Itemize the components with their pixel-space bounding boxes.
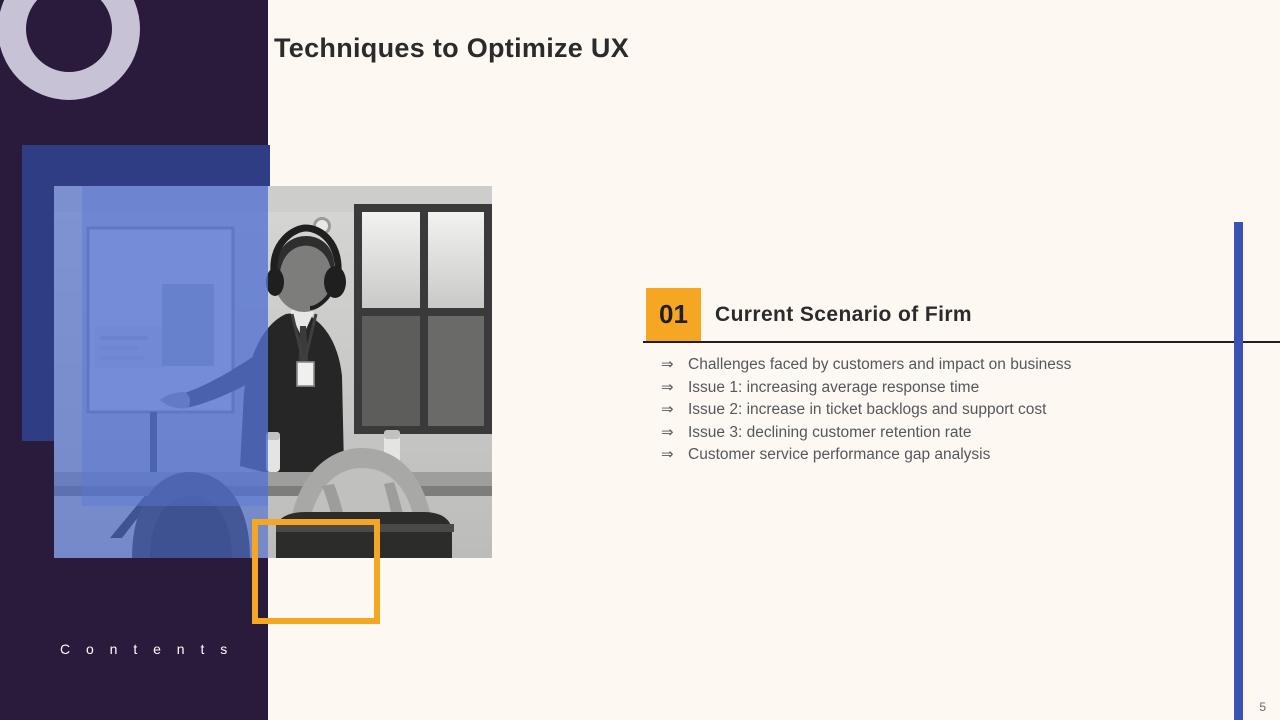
list-item: ⇒ Issue 2: increase in ticket backlogs a… bbox=[688, 399, 1266, 422]
double-arrow-icon: ⇒ bbox=[661, 399, 674, 422]
list-item-label: Customer service performance gap analysi… bbox=[688, 446, 990, 463]
section-number-badge: 01 bbox=[646, 288, 701, 341]
orange-square-decoration bbox=[252, 519, 380, 624]
page-number: 5 bbox=[1259, 700, 1266, 714]
section-heading: Current Scenario of Firm bbox=[701, 288, 972, 341]
list-item-label: Challenges faced by customers and impact… bbox=[688, 356, 1071, 373]
section-block: 01 Current Scenario of Firm ⇒ Challenges… bbox=[646, 288, 1266, 467]
ring-decoration-icon bbox=[0, 0, 140, 100]
right-accent-bar bbox=[1234, 222, 1243, 720]
list-item-label: Issue 3: declining customer retention ra… bbox=[688, 424, 971, 441]
double-arrow-icon: ⇒ bbox=[661, 444, 674, 467]
section-bullet-list: ⇒ Challenges faced by customers and impa… bbox=[646, 354, 1266, 467]
double-arrow-icon: ⇒ bbox=[661, 377, 674, 400]
contents-label: C o n t e n t s bbox=[60, 641, 233, 657]
page-title: Techniques to Optimize UX bbox=[274, 33, 629, 64]
double-arrow-icon: ⇒ bbox=[661, 354, 674, 377]
section-header: 01 Current Scenario of Firm bbox=[646, 288, 1266, 341]
section-divider bbox=[643, 341, 1280, 343]
list-item-label: Issue 2: increase in ticket backlogs and… bbox=[688, 401, 1046, 418]
list-item: ⇒ Issue 1: increasing average response t… bbox=[688, 377, 1266, 400]
list-item: ⇒ Challenges faced by customers and impa… bbox=[688, 354, 1266, 377]
list-item-label: Issue 1: increasing average response tim… bbox=[688, 379, 979, 396]
list-item: ⇒ Customer service performance gap analy… bbox=[688, 444, 1266, 467]
photo-blue-tint-overlay bbox=[54, 186, 268, 558]
double-arrow-icon: ⇒ bbox=[661, 422, 674, 445]
list-item: ⇒ Issue 3: declining customer retention … bbox=[688, 422, 1266, 445]
